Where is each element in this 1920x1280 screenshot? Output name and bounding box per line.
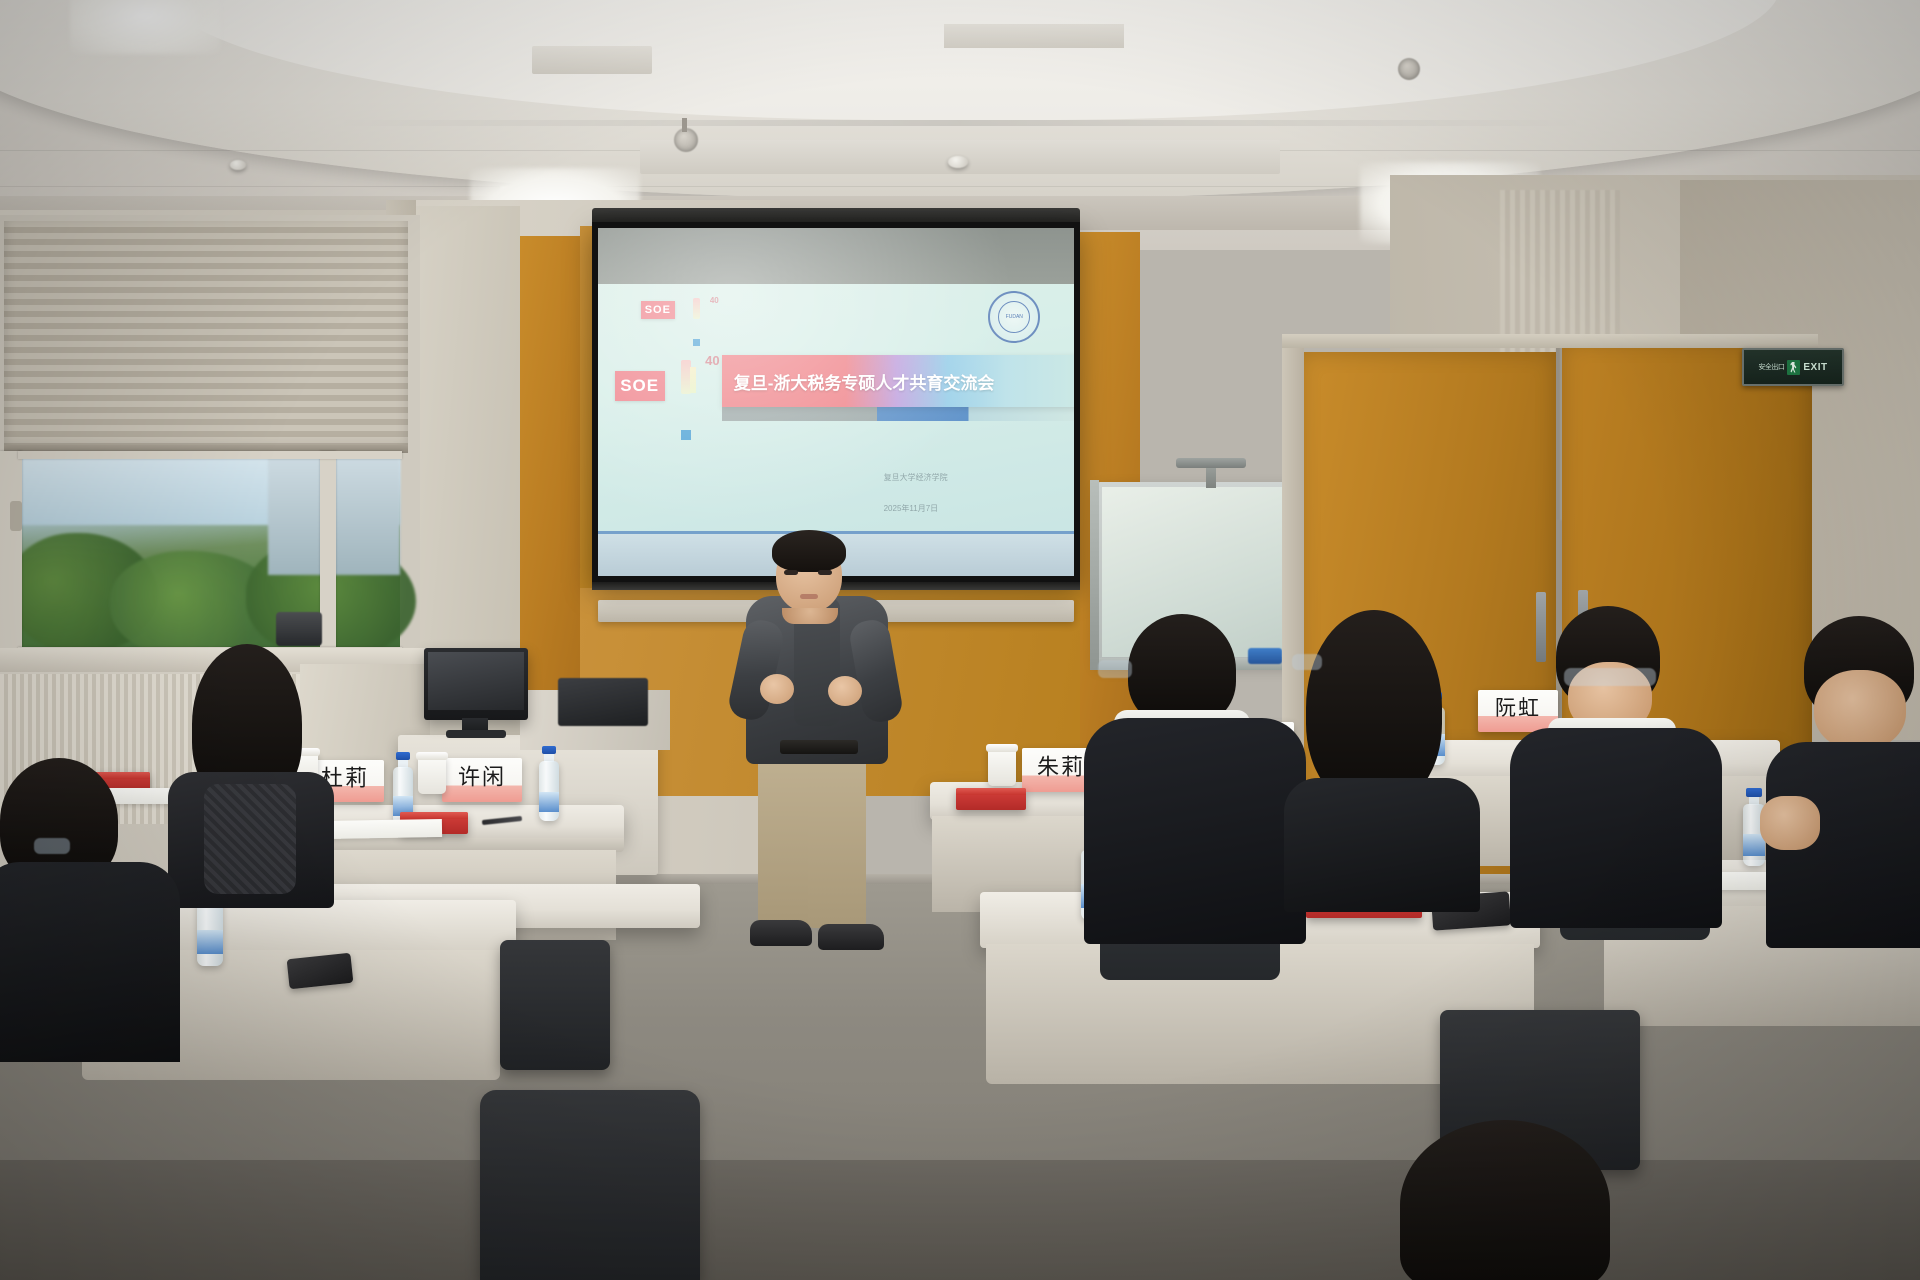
window-blinds[interactable] <box>4 221 408 453</box>
audience-5-glasses <box>1564 668 1656 686</box>
speaker-mount <box>682 118 687 132</box>
chair-foreground[interactable] <box>480 1090 700 1280</box>
presenter-belt <box>780 740 858 754</box>
presenter-mouth <box>800 594 818 599</box>
ceiling-speaker <box>1398 58 1420 80</box>
audience-6-hand <box>1760 796 1820 850</box>
audience-4-hair <box>1306 610 1442 806</box>
window-mullion <box>0 451 22 659</box>
paper-cup[interactable] <box>988 748 1016 786</box>
exit-sign-en: EXIT <box>1803 362 1827 373</box>
audience-member-6 <box>1760 616 1920 946</box>
red-gift-box[interactable] <box>956 788 1026 810</box>
audience-4-body <box>1284 778 1480 912</box>
whiteboard-lamp <box>1176 458 1246 468</box>
audience-6-head <box>1814 670 1906 750</box>
audience-member-1 <box>160 644 350 904</box>
window-mullion <box>320 451 336 659</box>
audience-member-7 <box>1380 1120 1640 1280</box>
presenter-shoe-left <box>750 920 812 946</box>
smoke-detector-icon <box>948 156 968 168</box>
audience-5-suit <box>1510 728 1722 928</box>
light-glow <box>70 0 220 54</box>
window-latch[interactable] <box>10 501 22 531</box>
audience-2-glasses <box>34 838 70 854</box>
audience-1-pattern <box>204 784 296 894</box>
ceiling-vent <box>532 46 652 74</box>
audience-3-glasses <box>1098 660 1132 678</box>
presenter-hand-right <box>828 676 862 706</box>
window-glass <box>18 455 400 651</box>
chair[interactable] <box>500 940 610 1070</box>
presenter-hair <box>772 530 846 572</box>
whiteboard-lamp-arm <box>1206 466 1216 488</box>
presenter-eye-right <box>818 570 832 575</box>
audience-7-hair <box>1400 1120 1610 1280</box>
presenter-hand-left <box>760 674 794 704</box>
audience-3-suit <box>1084 718 1306 944</box>
audience-member-5 <box>1498 606 1728 926</box>
presenter-eye-left <box>784 570 798 575</box>
exit-sign: 安全出口 EXIT <box>1742 348 1844 386</box>
audience-member-2 <box>0 758 180 1058</box>
running-man-icon <box>1787 360 1800 375</box>
ceiling-vent <box>944 24 1124 48</box>
classroom-photo: FUDAN SOE 40 SOE 40 复旦-浙大税务专硕人才共育交流会 <box>0 0 1920 1280</box>
paper-cup[interactable] <box>418 756 446 794</box>
monitor-base <box>446 730 506 738</box>
ceiling-recess-shadow <box>330 120 1590 126</box>
monitor-second[interactable] <box>558 678 648 726</box>
placard-2: 许闲 <box>442 758 522 802</box>
presenter-shoe-right <box>818 924 884 950</box>
audience-2-body <box>0 862 180 1062</box>
placard-3-name: 朱莉 <box>1037 750 1085 782</box>
audience-member-3 <box>1080 614 1310 944</box>
smoke-detector-icon <box>230 160 246 170</box>
placard-2-name: 许闲 <box>458 760 506 792</box>
desktop-monitor[interactable] <box>424 648 528 720</box>
monitor-screen <box>428 652 524 710</box>
audience-member-4 <box>1278 610 1488 910</box>
audience-4-glasses <box>1292 654 1322 670</box>
exit-sign-cn: 安全出口 <box>1758 362 1784 372</box>
window-mullion <box>18 451 402 459</box>
presenter-neck <box>782 608 838 624</box>
wall-camera <box>276 612 322 646</box>
door-header <box>1282 334 1818 348</box>
presenter <box>720 524 920 984</box>
